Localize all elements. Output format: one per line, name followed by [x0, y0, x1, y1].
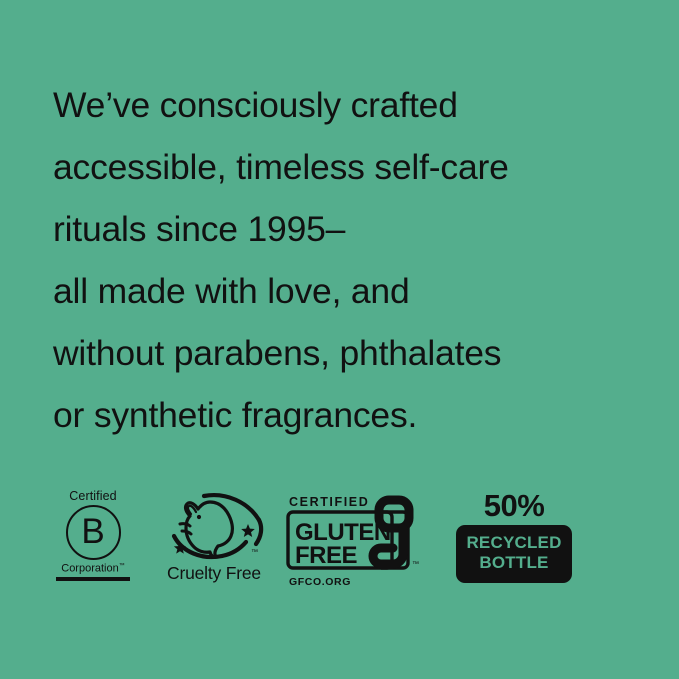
headline-line-5: without parabens, phthalates: [53, 322, 653, 384]
gluten-free-line-2: FREE: [295, 542, 358, 569]
headline-line-6: or synthetic fragrances.: [53, 384, 653, 446]
b-corporation-logo-icon: Certified B Corporation™: [52, 490, 134, 581]
b-corporation-badge: Certified B Corporation™: [52, 490, 134, 594]
b-corporation-certified-text: Certified: [69, 490, 116, 503]
promo-graphic: We’ve consciously crafted accessible, ti…: [0, 0, 679, 679]
headline-line-4: all made with love, and: [53, 260, 653, 322]
gluten-free-trademark-icon: ™: [412, 561, 419, 568]
gfco-gluten-free-logo-icon: CERTIFIED GLUTEN FREE ™ GFCO.ORG: [285, 490, 427, 594]
recycled-bottle-line-1: RECYCLED: [466, 533, 561, 553]
b-corporation-trademark-icon: ™: [119, 563, 125, 569]
headline-line-2: accessible, timeless self-care: [53, 136, 653, 198]
recycled-bottle-badge: 50% RECYCLED BOTTLE: [462, 490, 566, 594]
b-corporation-corporation-label: Corporation: [61, 562, 118, 574]
b-corporation-corporation-text: Corporation™: [61, 563, 124, 575]
recycled-bottle-box: RECYCLED BOTTLE: [456, 525, 571, 583]
gluten-free-certified-text: CERTIFIED: [289, 495, 369, 509]
cruelty-free-label: Cruelty Free: [167, 565, 261, 583]
cruelty-free-badge: ™ Cruelty Free: [158, 490, 270, 594]
gluten-free-url-text: GFCO.ORG: [289, 576, 351, 588]
gluten-free-badge: CERTIFIED GLUTEN FREE ™ GFCO.ORG: [285, 490, 427, 594]
svg-text:™: ™: [251, 549, 258, 556]
headline-line-3: rituals since 1995–: [53, 198, 653, 260]
cruelty-free-logo-icon: ™ Cruelty Free: [158, 490, 270, 583]
headline-line-1: We’ve consciously crafted: [53, 74, 653, 136]
b-corporation-underline-bar: [56, 577, 130, 581]
b-corporation-letter: B: [81, 514, 104, 549]
recycled-percent-value: 50%: [484, 490, 545, 521]
leaping-bunny-icon: ™: [160, 490, 268, 564]
headline-block: We’ve consciously crafted accessible, ti…: [53, 74, 653, 446]
recycled-bottle-line-2: BOTTLE: [479, 553, 548, 573]
recycled-bottle-logo-icon: 50% RECYCLED BOTTLE: [462, 490, 566, 583]
certification-badge-row: Certified B Corporation™: [0, 490, 679, 600]
b-corporation-circle-icon: B: [66, 505, 121, 560]
